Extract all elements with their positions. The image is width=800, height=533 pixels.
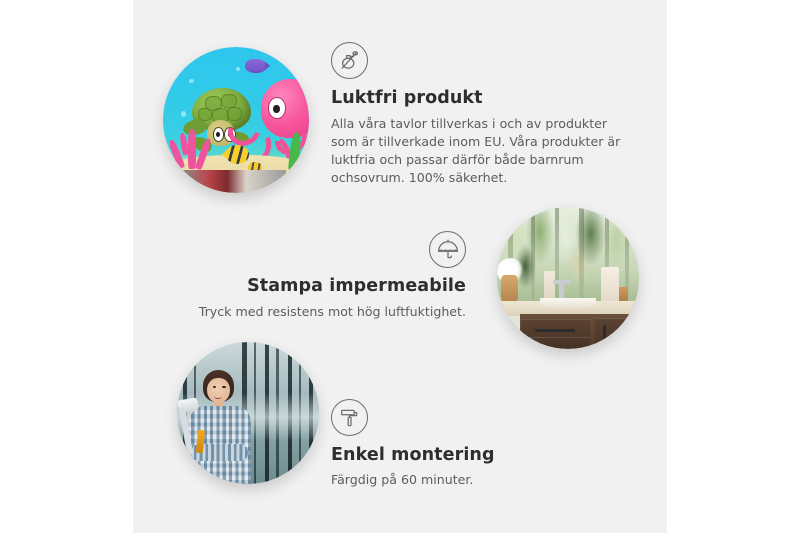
feature-title: Enkel montering bbox=[331, 445, 591, 465]
feature-description: Alla våra tavlor tillverkas i och av pro… bbox=[331, 115, 631, 187]
feature-description: Tryck med resistens mot hög luftfuktighe… bbox=[196, 303, 466, 321]
woman-face bbox=[207, 378, 230, 404]
feature-title: Stampa impermeabile bbox=[196, 276, 466, 296]
feature-odour-free: Luktfri produkt Alla våra tavlor tillver… bbox=[331, 42, 631, 187]
bathroom-scene-photo bbox=[497, 207, 639, 349]
wooden-vanity-cabinet bbox=[520, 314, 639, 350]
umbrella-icon bbox=[429, 231, 466, 268]
forest-scene-photo bbox=[177, 342, 319, 484]
door-handle bbox=[603, 325, 606, 344]
vanity-door bbox=[595, 318, 639, 349]
drawer-handle bbox=[535, 329, 574, 332]
leaf-vein bbox=[579, 207, 583, 309]
pink-coral bbox=[169, 129, 219, 173]
feature-title: Luktfri produkt bbox=[331, 88, 631, 108]
feature-easy-mounting: Enkel montering Färgdig på 60 minuter. bbox=[331, 399, 591, 489]
product-image-bathroom-scene[interactable] bbox=[497, 207, 639, 349]
yellow-striped-fish-icon bbox=[226, 145, 249, 164]
product-image-underwater-scene[interactable] bbox=[163, 47, 309, 193]
sink-basin bbox=[540, 298, 597, 308]
vanity-drawer bbox=[522, 337, 590, 349]
underwater-scene-artwork bbox=[163, 47, 309, 193]
screenshot-canvas: Luktfri produkt Alla våra tavlor tillver… bbox=[0, 0, 800, 533]
coral-branch bbox=[188, 129, 196, 169]
hanging-towel bbox=[601, 267, 619, 304]
bubble-icon bbox=[236, 67, 240, 71]
no-odour-spray-bottle-icon bbox=[331, 42, 368, 79]
feature-description: Färgdig på 60 minuter. bbox=[331, 471, 591, 489]
feature-waterproof-print: Stampa impermeabile Tryck med resistens … bbox=[196, 231, 466, 321]
product-image-forest-scene[interactable] bbox=[177, 342, 319, 484]
coral-branch bbox=[179, 133, 189, 156]
octopus-eye bbox=[268, 97, 286, 119]
paint-roller-icon bbox=[331, 399, 368, 436]
turtle-scute bbox=[221, 94, 237, 108]
purple-fish-icon bbox=[245, 59, 267, 74]
scene-foreground-strip bbox=[181, 170, 286, 193]
coral-branch bbox=[194, 137, 211, 169]
